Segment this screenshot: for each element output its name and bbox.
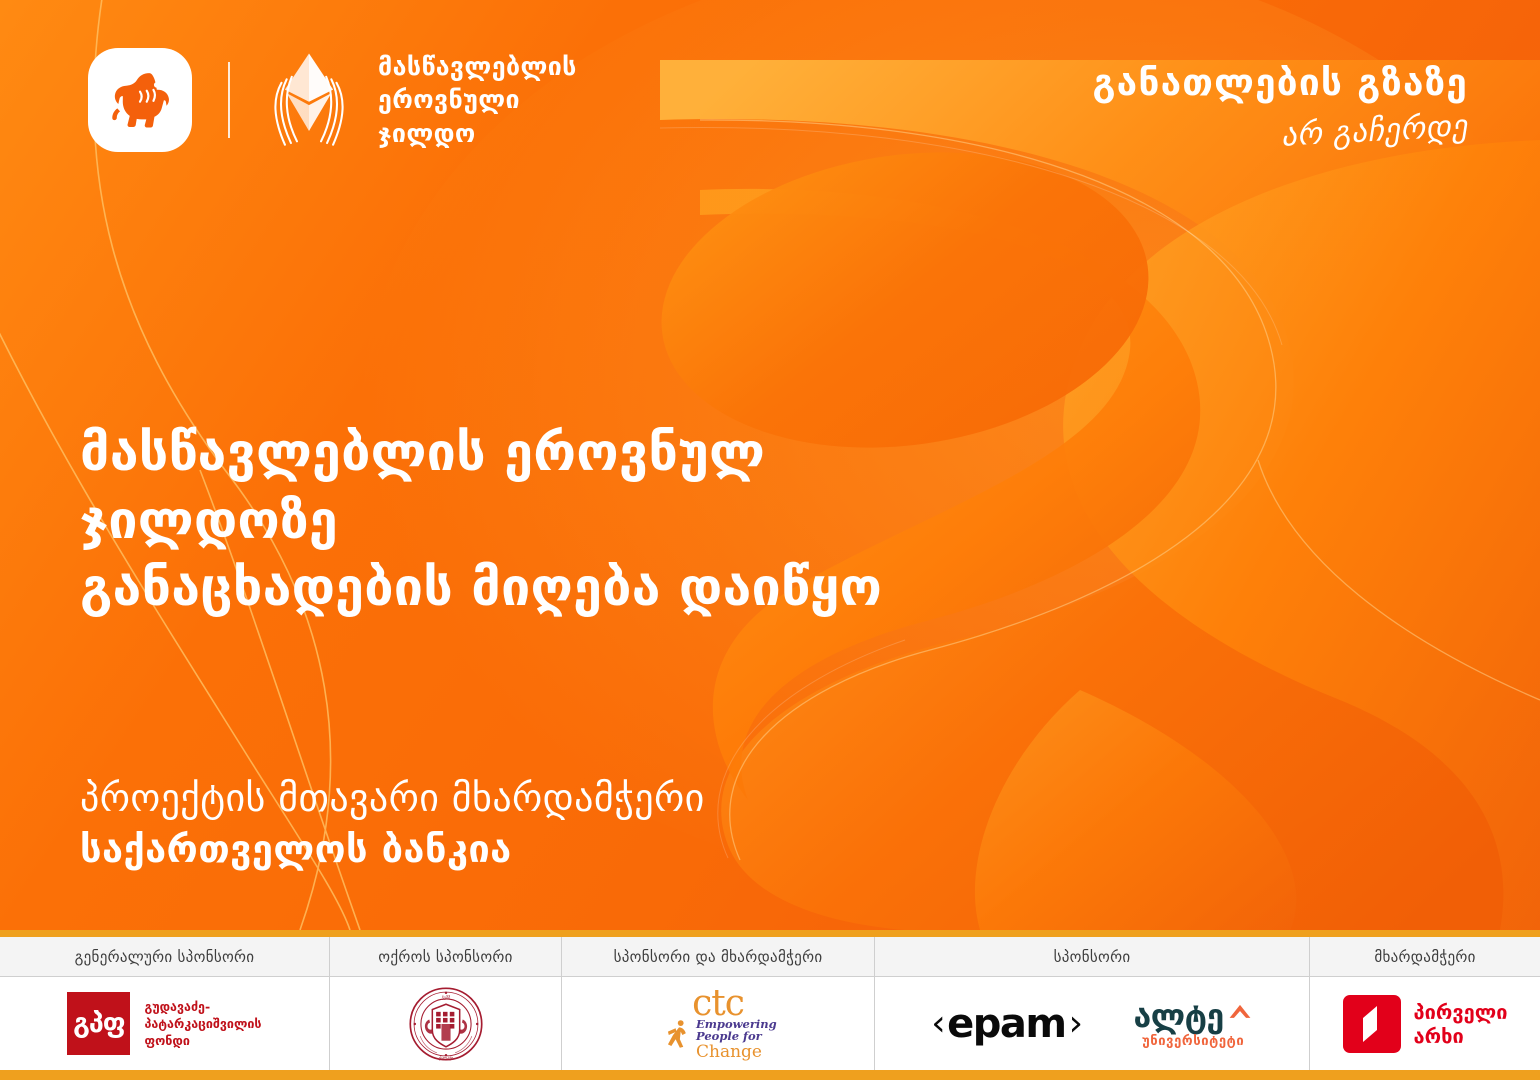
- epam-wordmark: epam: [947, 1001, 1065, 1047]
- slogan-main-text: განათლების გზაზე: [1092, 64, 1468, 103]
- logo-alte-university[interactable]: ალტე უნივერსიტეტი: [1134, 1000, 1253, 1048]
- sponsor-column-sponsors: სპონსორი ‹ epam › ალტე: [875, 937, 1310, 1070]
- sponsor-column-title: ოქროს სპონსორი: [330, 937, 561, 977]
- sponsor-column-title: მხარდამჭერი: [1310, 937, 1540, 977]
- sponsor-column-title: გენერალური სპონსორი: [0, 937, 329, 977]
- ctc-tag-line2: People for: [696, 1030, 777, 1042]
- first-channel-wordmark: პირველი არხი: [1414, 1000, 1508, 1048]
- sponsor-column-title: სპონსორი: [875, 937, 1309, 977]
- main-supporter-block: პროექტის მთავარი მხარდამჭერი საქართველოს…: [80, 773, 1040, 875]
- organization-branding: მასწავლებლის ეროვნული ჯილდო: [88, 48, 577, 152]
- city-seal-icon[interactable]: ჭეშმ ქალაქი: [408, 986, 484, 1062]
- epam-left-chevron: ‹: [931, 1003, 944, 1044]
- svg-text:ჭეშმ: ჭეშმ: [441, 994, 449, 999]
- campaign-slogan: განათლების გზაზე არ გაჩერდე: [1092, 56, 1468, 145]
- slogan-sub-text: არ გაჩერდე: [1092, 108, 1469, 164]
- sponsor-column-logos: ctc: [562, 977, 874, 1070]
- sponsor-column-supporter: მხარდამჭერი პირველი არხი: [1310, 937, 1540, 1070]
- alte-wordmark: ალტე: [1134, 1000, 1224, 1032]
- supporter-label: პროექტის მთავარი მხარდამჭერი: [80, 773, 1040, 824]
- logo-first-channel[interactable]: პირველი არხი: [1343, 995, 1508, 1053]
- ctc-tagline: Empowering People for Change: [662, 1018, 774, 1060]
- sponsor-column-title: სპონსორი და მხარდამჭერი: [562, 937, 874, 977]
- first-channel-mark-icon: [1343, 995, 1401, 1053]
- organization-name: მასწავლებლის ეროვნული ჯილდო: [378, 50, 577, 150]
- poster-canvas: მასწავლებლის ეროვნული ჯილდო განათლების გ…: [0, 0, 1540, 1080]
- alte-subtitle: უნივერსიტეტი: [1142, 1034, 1244, 1049]
- award-diamond-icon: [266, 48, 352, 152]
- sponsor-column-gold: ოქროს სპონსორი: [330, 937, 562, 1070]
- sponsor-column-logos: ჭეშმ ქალაქი: [330, 977, 561, 1070]
- ctc-tag-line3: Change: [696, 1043, 777, 1061]
- ctc-tag-lines: Empowering People for Change: [696, 1018, 777, 1060]
- brand-divider: [228, 62, 230, 138]
- logo-epam[interactable]: ‹ epam ›: [931, 1001, 1081, 1047]
- sponsor-column-logos: გპფ გუდავაძე- პატარკაციშვილის ფონდი: [0, 977, 329, 1070]
- bpf-monogram: გპფ: [67, 992, 130, 1055]
- logo-ctc[interactable]: ctc: [662, 986, 774, 1060]
- lion-mark-icon: [88, 48, 192, 152]
- sponsor-grid: გენერალური სპონსორი გპფ გუდავაძე- პატარკ…: [0, 937, 1540, 1070]
- page-title: მასწავლებლის ეროვნულ ჯილდოზე განაცხადები…: [80, 420, 1040, 623]
- running-person-icon: [666, 1018, 692, 1052]
- alte-row: ალტე: [1134, 1000, 1253, 1032]
- poster-header: მასწავლებლის ეროვნული ჯილდო განათლების გ…: [0, 0, 1540, 200]
- sponsor-column-general: გენერალური სპონსორი გპფ გუდავაძე- პატარკ…: [0, 937, 330, 1070]
- supporter-name: საქართველოს ბანკია: [80, 824, 1040, 875]
- epam-right-chevron: ›: [1069, 1003, 1082, 1044]
- hero-section: მასწავლებლის ეროვნული ჯილდო განათლების გ…: [0, 0, 1540, 930]
- bpf-wordmark: გუდავაძე- პატარკაციშვილის ფონდი: [144, 998, 261, 1050]
- sponsors-footer: გენერალური სპონსორი გპფ გუდავაძე- პატარკ…: [0, 930, 1540, 1080]
- amber-bottom-rule: [0, 1070, 1540, 1080]
- amber-top-rule: [0, 930, 1540, 937]
- sponsor-column-sponsor-supporter: სპონსორი და მხარდამჭერი ctc: [562, 937, 875, 1070]
- headline-block: მასწავლებლის ეროვნულ ჯილდოზე განაცხადები…: [80, 420, 1040, 875]
- sponsor-column-logos: ‹ epam › ალტე უნივ: [875, 977, 1309, 1070]
- svg-text:ქალაქი: ქალაქი: [438, 1055, 453, 1060]
- logo-bp-foundation[interactable]: გპფ გუდავაძე- პატარკაციშვილის ფონდი: [67, 992, 261, 1055]
- sponsor-column-logos: პირველი არხი: [1310, 977, 1540, 1070]
- chevron-up-icon: [1227, 1002, 1253, 1020]
